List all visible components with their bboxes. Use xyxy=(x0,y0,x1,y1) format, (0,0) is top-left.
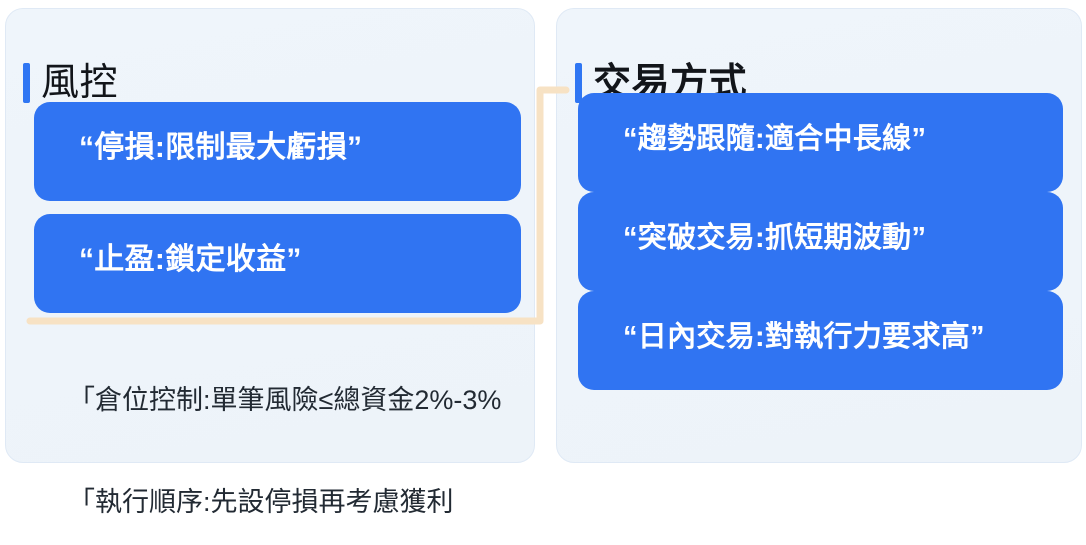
card-take-profit[interactable]: “止盈:鎖定收益” xyxy=(34,214,521,313)
card-label: “趨勢跟隨:適合中長線” xyxy=(623,122,926,156)
note-list-risk-control: 「倉位控制:單筆風險≤總資金2%-3% 「執行順序:先設停損再考慮獲利 xyxy=(68,357,501,545)
card-label: “日內交易:對執行力要求高” xyxy=(623,320,985,354)
infographic-canvas: 風控 “停損:限制最大虧損” “止盈:鎖定收益” 「倉位控制:單筆風險≤總資金2… xyxy=(0,0,1086,473)
card-intraday-trading[interactable]: “日內交易:對執行力要求高” xyxy=(578,291,1063,390)
accent-bar-icon xyxy=(23,63,30,103)
card-label: “止盈:鎖定收益” xyxy=(79,243,302,277)
note-position-sizing: 「倉位控制:單筆風險≤總資金2%-3% xyxy=(68,384,501,416)
card-label: “停損:限制最大虧損” xyxy=(79,131,362,165)
card-list-risk-control: “停損:限制最大虧損” “止盈:鎖定收益” xyxy=(34,102,521,313)
card-stop-loss[interactable]: “停損:限制最大虧損” xyxy=(34,102,521,201)
page-title-risk-control: 風控 xyxy=(41,63,118,103)
card-breakout-trading[interactable]: “突破交易:抓短期波動” xyxy=(578,192,1063,291)
card-label: “突破交易:抓短期波動” xyxy=(623,221,926,255)
note-execution-order: 「執行順序:先設停損再考慮獲利 xyxy=(68,486,501,518)
card-trend-following[interactable]: “趨勢跟隨:適合中長線” xyxy=(578,93,1063,192)
card-list-trading-method: “趨勢跟隨:適合中長線” “突破交易:抓短期波動” “日內交易:對執行力要求高” xyxy=(578,93,1063,390)
panel-risk-control: 風控 “停損:限制最大虧損” “止盈:鎖定收益” 「倉位控制:單筆風險≤總資金2… xyxy=(5,8,535,463)
